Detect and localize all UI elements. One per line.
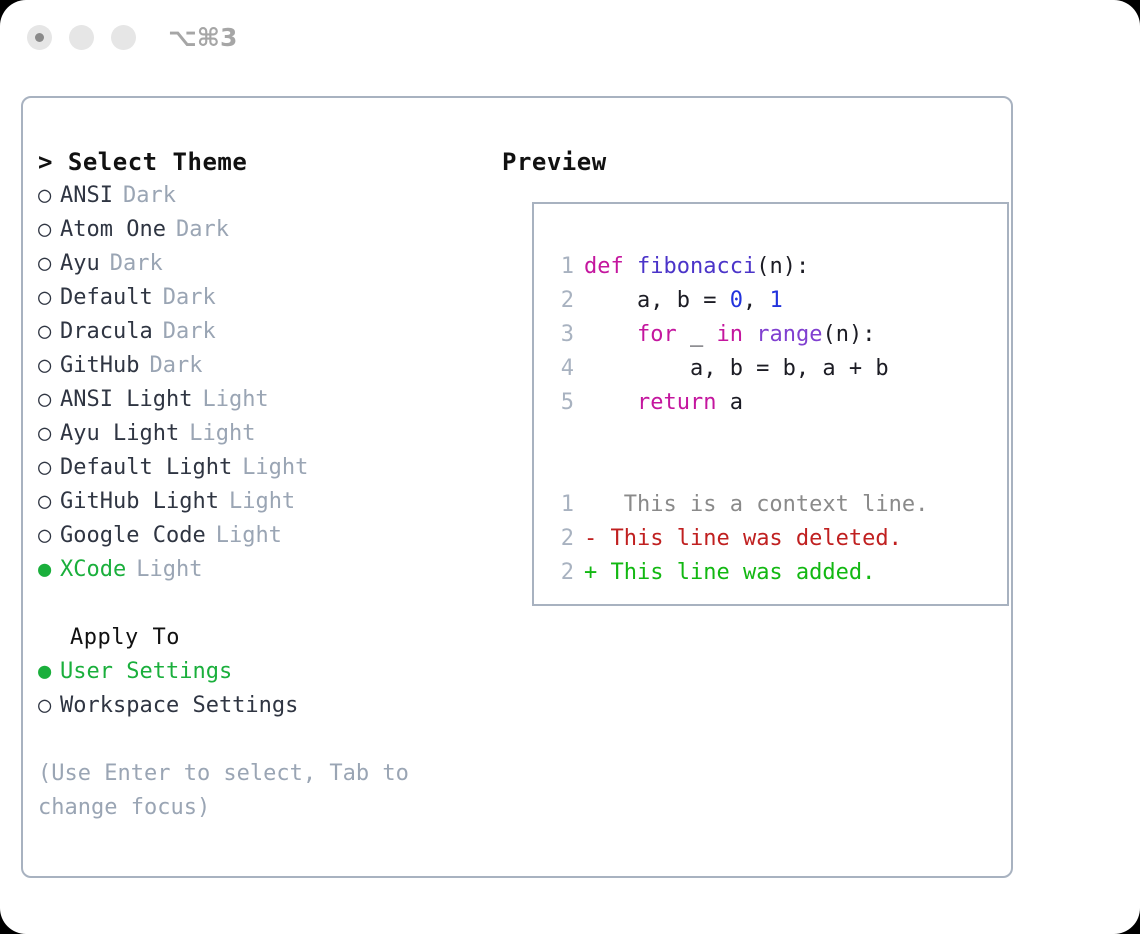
diff-sign bbox=[584, 488, 597, 522]
code-token: return bbox=[637, 390, 716, 415]
theme-option-default-light[interactable]: ○Default LightLight bbox=[38, 451, 478, 485]
diff-line: 2- This line was deleted. bbox=[548, 522, 928, 556]
code-token: a, b = bbox=[584, 288, 730, 313]
spacer bbox=[38, 587, 478, 621]
code-line: 4 a, b = b, a + b bbox=[548, 352, 928, 386]
theme-option-label: Dracula bbox=[60, 315, 153, 349]
line-number: 1 bbox=[548, 488, 574, 522]
keyboard-shortcut-label: ⌥⌘3 bbox=[168, 23, 237, 52]
theme-option-label: GitHub Light bbox=[60, 485, 219, 519]
apply-to-option-workspace-settings[interactable]: ○Workspace Settings bbox=[38, 689, 478, 723]
code-token: _ bbox=[677, 322, 717, 347]
keyboard-hint-text: (Use Enter to select, Tab to change focu… bbox=[38, 757, 438, 825]
theme-option-kind: Light bbox=[229, 485, 295, 519]
theme-option-kind: Dark bbox=[149, 349, 202, 383]
radio-unselected-icon: ○ bbox=[38, 349, 60, 383]
code-token: for bbox=[637, 322, 677, 347]
line-number: 4 bbox=[548, 352, 574, 386]
theme-list[interactable]: ○ANSIDark○Atom OneDark○AyuDark○DefaultDa… bbox=[38, 179, 478, 587]
line-number: 3 bbox=[548, 318, 574, 352]
code-token: (n): bbox=[756, 254, 809, 279]
radio-unselected-icon: ○ bbox=[38, 281, 60, 315]
title-bar: ⌥⌘3 bbox=[0, 0, 1140, 76]
code-token: fibonacci bbox=[637, 254, 756, 279]
apply-to-option-label: Workspace Settings bbox=[60, 689, 298, 723]
theme-option-default[interactable]: ○DefaultDark bbox=[38, 281, 478, 315]
radio-unselected-icon: ○ bbox=[38, 247, 60, 281]
code-token: range bbox=[756, 322, 822, 347]
window-dot-2[interactable] bbox=[69, 25, 94, 50]
theme-option-label: Default Light bbox=[60, 451, 232, 485]
code-token: def bbox=[584, 254, 624, 279]
theme-option-github[interactable]: ○GitHubDark bbox=[38, 349, 478, 383]
code-token: a, b = b, a + b bbox=[584, 356, 889, 381]
code-preview: 1def fibonacci(n):2 a, b = 0, 13 for _ i… bbox=[548, 250, 928, 590]
radio-unselected-icon: ○ bbox=[38, 417, 60, 451]
theme-option-kind: Dark bbox=[163, 315, 216, 349]
code-token bbox=[584, 390, 637, 415]
radio-unselected-icon: ○ bbox=[38, 519, 60, 553]
code-line: 1def fibonacci(n): bbox=[548, 250, 928, 284]
code-token: 1 bbox=[769, 288, 782, 313]
diff-line-text: This is a context line. bbox=[597, 488, 928, 522]
apply-to-heading: Apply To bbox=[38, 621, 478, 655]
theme-option-kind: Dark bbox=[123, 179, 176, 213]
code-line: 3 for _ in range(n): bbox=[548, 318, 928, 352]
code-line: 2 a, b = 0, 1 bbox=[548, 284, 928, 318]
code-token: , bbox=[743, 288, 770, 313]
line-number: 2 bbox=[548, 522, 574, 556]
theme-selection-column: > Select Theme ○ANSIDark○Atom OneDark○Ay… bbox=[38, 145, 478, 825]
code-blank-line bbox=[548, 454, 928, 488]
radio-unselected-icon: ○ bbox=[38, 213, 60, 247]
theme-option-label: ANSI Light bbox=[60, 383, 192, 417]
line-number: 5 bbox=[548, 386, 574, 420]
theme-picker-card: > Select Theme ○ANSIDark○Atom OneDark○Ay… bbox=[21, 96, 1013, 878]
radio-unselected-icon: ○ bbox=[38, 451, 60, 485]
theme-option-kind: Dark bbox=[163, 281, 216, 315]
theme-option-ansi[interactable]: ○ANSIDark bbox=[38, 179, 478, 213]
theme-option-kind: Light bbox=[189, 417, 255, 451]
diff-line-text: This line was added. bbox=[597, 556, 875, 590]
diff-sign: + bbox=[584, 556, 597, 590]
radio-unselected-icon: ○ bbox=[38, 485, 60, 519]
theme-option-atom-one[interactable]: ○Atom OneDark bbox=[38, 213, 478, 247]
line-number: 2 bbox=[548, 284, 574, 318]
code-line-content: a, b = b, a + b bbox=[584, 352, 889, 386]
theme-option-label: Atom One bbox=[60, 213, 166, 247]
line-number: 2 bbox=[548, 556, 574, 590]
theme-option-kind: Light bbox=[136, 553, 202, 587]
apply-to-option-user-settings[interactable]: ●User Settings bbox=[38, 655, 478, 689]
radio-selected-icon: ● bbox=[38, 655, 60, 689]
diff-sign: - bbox=[584, 522, 597, 556]
code-token: a bbox=[716, 390, 743, 415]
code-token: 0 bbox=[730, 288, 743, 313]
preview-box: 1def fibonacci(n):2 a, b = 0, 13 for _ i… bbox=[532, 202, 1009, 606]
code-line-content: return a bbox=[584, 386, 743, 420]
code-token: (n): bbox=[822, 322, 875, 347]
code-line-content: def fibonacci(n): bbox=[584, 250, 809, 284]
window-dot-active[interactable] bbox=[27, 25, 52, 50]
preview-column: Preview 1def fibonacci(n):2 a, b = 0, 13… bbox=[502, 145, 1002, 179]
theme-option-google-code[interactable]: ○Google CodeLight bbox=[38, 519, 478, 553]
code-blank-line bbox=[548, 420, 928, 454]
theme-option-github-light[interactable]: ○GitHub LightLight bbox=[38, 485, 478, 519]
radio-unselected-icon: ○ bbox=[38, 179, 60, 213]
select-theme-title: > Select Theme bbox=[38, 145, 478, 179]
radio-selected-icon: ● bbox=[38, 553, 60, 587]
code-line-content: a, b = 0, 1 bbox=[584, 284, 783, 318]
theme-option-kind: Light bbox=[202, 383, 268, 417]
radio-unselected-icon: ○ bbox=[38, 689, 60, 723]
code-line-content: for _ in range(n): bbox=[584, 318, 875, 352]
radio-unselected-icon: ○ bbox=[38, 315, 60, 349]
radio-unselected-icon: ○ bbox=[38, 383, 60, 417]
theme-option-xcode[interactable]: ●XCodeLight bbox=[38, 553, 478, 587]
apply-to-option-label: User Settings bbox=[60, 655, 232, 689]
theme-option-kind: Dark bbox=[110, 247, 163, 281]
theme-option-label: Google Code bbox=[60, 519, 206, 553]
code-line: 5 return a bbox=[548, 386, 928, 420]
theme-option-ayu[interactable]: ○AyuDark bbox=[38, 247, 478, 281]
diff-line-text: This line was deleted. bbox=[597, 522, 902, 556]
window-dot-3[interactable] bbox=[111, 25, 136, 50]
theme-option-label: Default bbox=[60, 281, 153, 315]
theme-option-kind: Light bbox=[242, 451, 308, 485]
line-number: 1 bbox=[548, 250, 574, 284]
diff-line: 1 This is a context line. bbox=[548, 488, 928, 522]
code-token bbox=[584, 322, 637, 347]
app-window: ⌥⌘3 > Select Theme ○ANSIDark○Atom OneDar… bbox=[0, 0, 1140, 934]
theme-option-ansi-light[interactable]: ○ANSI LightLight bbox=[38, 383, 478, 417]
theme-option-label: GitHub bbox=[60, 349, 139, 383]
theme-option-label: Ayu bbox=[60, 247, 100, 281]
theme-option-label: ANSI bbox=[60, 179, 113, 213]
theme-option-kind: Dark bbox=[176, 213, 229, 247]
code-token bbox=[624, 254, 637, 279]
preview-title: Preview bbox=[502, 145, 1002, 179]
theme-option-label: XCode bbox=[60, 553, 126, 587]
code-token bbox=[743, 322, 756, 347]
apply-to-list[interactable]: ●User Settings○Workspace Settings bbox=[38, 655, 478, 723]
code-token: in bbox=[716, 322, 743, 347]
record-dot-icon bbox=[35, 33, 44, 42]
theme-option-label: Ayu Light bbox=[60, 417, 179, 451]
diff-line: 2+ This line was added. bbox=[548, 556, 928, 590]
theme-option-kind: Light bbox=[216, 519, 282, 553]
window-controls bbox=[27, 25, 136, 50]
theme-option-dracula[interactable]: ○DraculaDark bbox=[38, 315, 478, 349]
theme-option-ayu-light[interactable]: ○Ayu LightLight bbox=[38, 417, 478, 451]
